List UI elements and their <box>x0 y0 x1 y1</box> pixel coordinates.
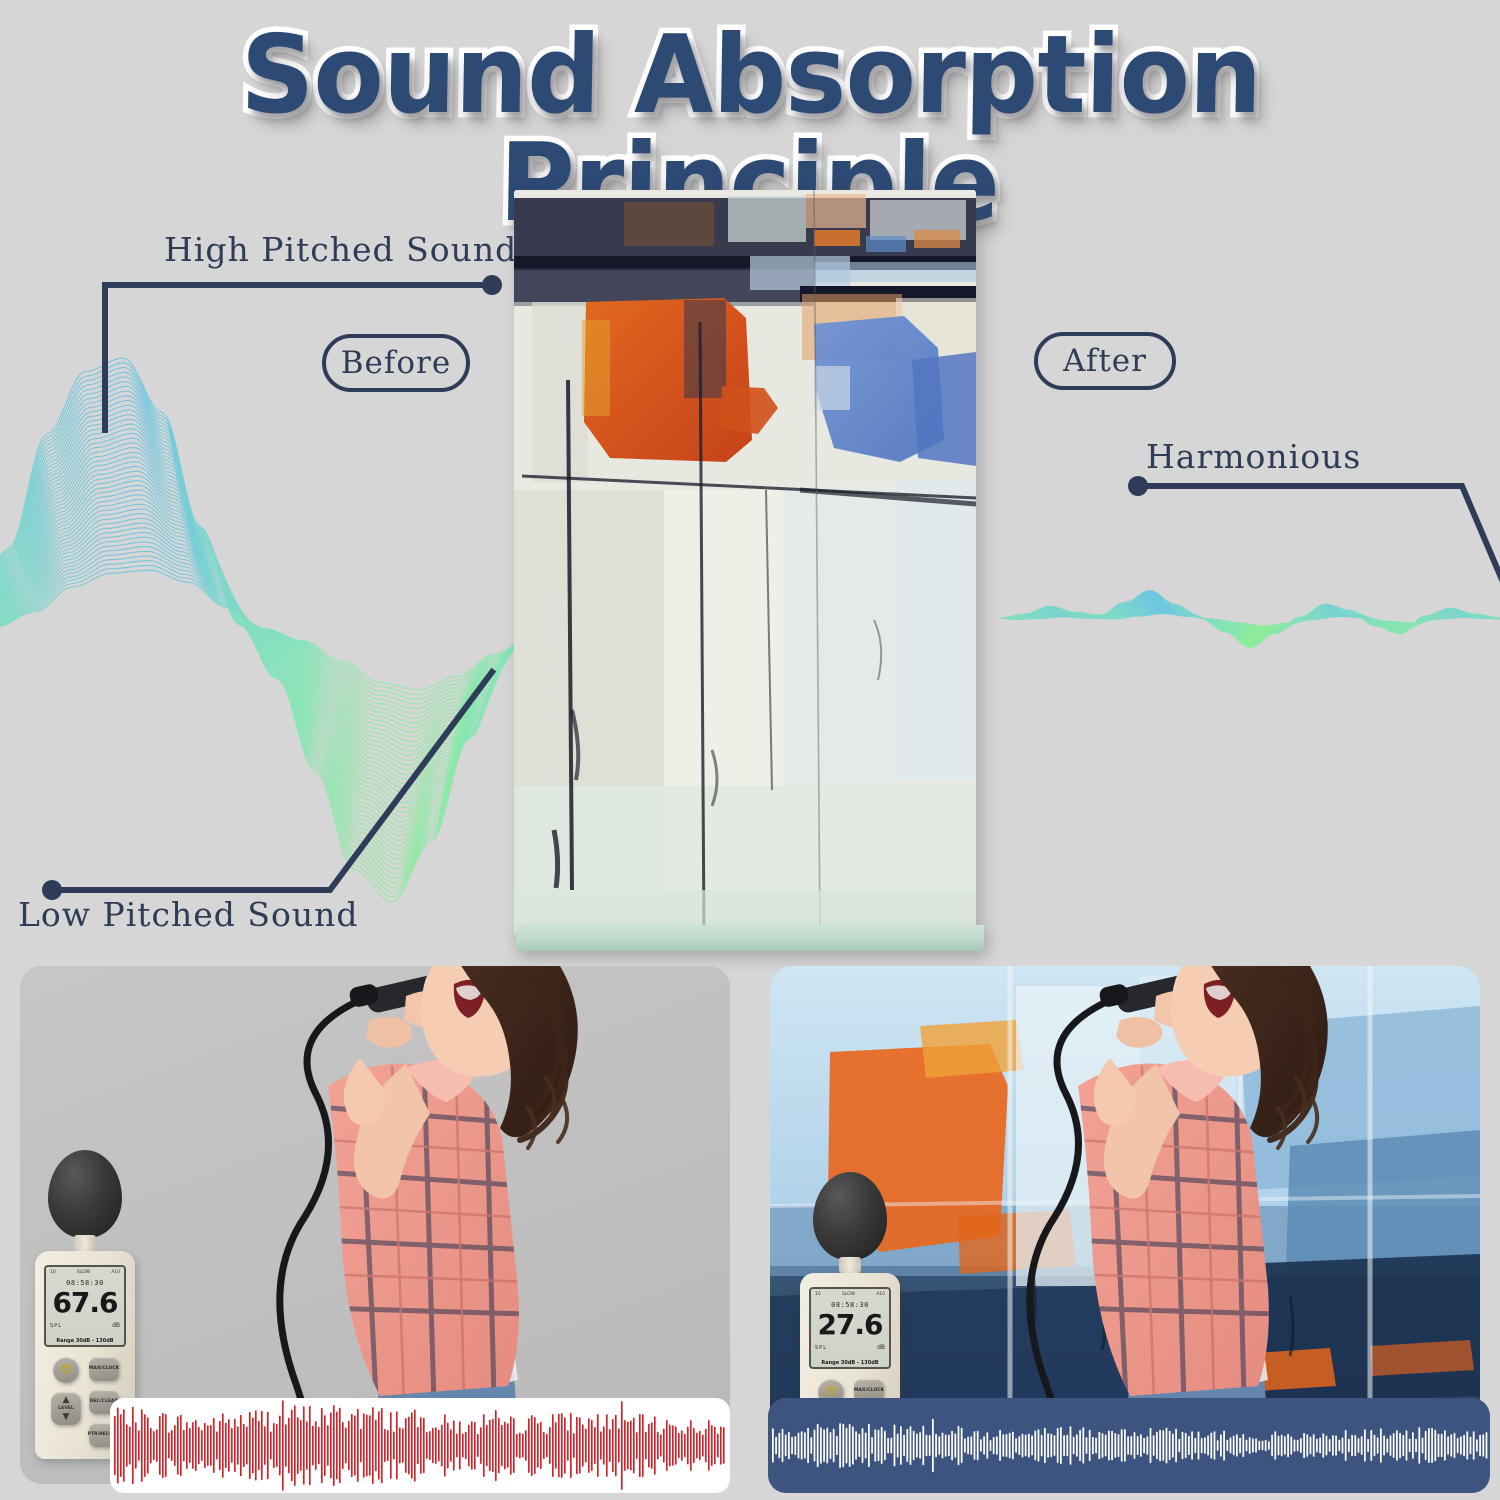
meter-range-label: Range 30dB - 130dB <box>811 1360 889 1366</box>
meter-mode-row: 10 SLOW A10 <box>815 1292 885 1297</box>
label-low-pitched-sound: Low Pitched Sound <box>18 895 359 934</box>
meter-left-buttons: ⏻ ▲ LEVEL ▼ <box>51 1357 81 1447</box>
level-up-arrow-icon[interactable]: ▲ <box>63 1396 70 1404</box>
meter-reading-value: 67.6 <box>46 1289 124 1317</box>
meter-reading-value: 27.6 <box>811 1311 889 1339</box>
meter-mic-neck <box>74 1235 96 1251</box>
power-button[interactable]: ⏻ <box>53 1357 79 1383</box>
meter-spl-label: SPL <box>50 1323 62 1329</box>
quiet-waveform-strip <box>768 1398 1490 1493</box>
meter-mode-right: A10 <box>111 1270 120 1275</box>
badge-after: After <box>1034 332 1176 390</box>
meter-slow-label: SLOW <box>842 1292 855 1297</box>
loud-waveform-graphic <box>110 1398 730 1493</box>
infographic-root: Sound Absorption Principle <box>0 0 1500 1500</box>
meter-unit-label: dB <box>112 1322 120 1329</box>
meter-range-label: Range 30dB - 130dB <box>46 1338 124 1344</box>
meter-mode-left: 10 <box>50 1270 56 1275</box>
meter-lcd-display: Digital Sound Level Meter 10 SLOW A10 08… <box>44 1265 126 1347</box>
meter-slow-label: SLOW <box>77 1270 90 1275</box>
meter-unit-label: dB <box>877 1344 885 1351</box>
after-sound-wave <box>1000 520 1500 760</box>
meter-mode-right: A10 <box>876 1292 885 1297</box>
acoustic-art-canvas <box>514 190 976 935</box>
label-harmonious: Harmonious <box>1146 437 1361 476</box>
meter-lcd-display: Digital Sound Level Meter 10 SLOW A10 08… <box>809 1287 891 1369</box>
abstract-painting-graphic <box>514 190 976 935</box>
canvas-bottom-edge <box>516 925 984 951</box>
quiet-waveform-graphic <box>768 1398 1490 1493</box>
level-label: LEVEL <box>58 1406 74 1411</box>
badge-before: Before <box>322 334 470 392</box>
loud-waveform-strip <box>110 1398 730 1493</box>
meter-mode-left: 10 <box>815 1292 821 1297</box>
meter-foam-windscreen <box>48 1150 122 1238</box>
badge-before-label: Before <box>341 345 451 381</box>
label-high-pitched-sound: High Pitched Sound <box>164 230 517 269</box>
meter-mode-row: 10 SLOW A10 <box>50 1270 120 1275</box>
meter-mic-neck <box>839 1257 861 1273</box>
level-rocker[interactable]: ▲ LEVEL ▼ <box>51 1392 81 1425</box>
badge-after-label: After <box>1063 343 1147 379</box>
meter-foam-windscreen <box>813 1172 887 1260</box>
level-down-arrow-icon[interactable]: ▼ <box>63 1413 70 1421</box>
max-clock-button[interactable]: MAX/CLOCK <box>89 1357 119 1381</box>
meter-spl-label: SPL <box>815 1345 827 1351</box>
